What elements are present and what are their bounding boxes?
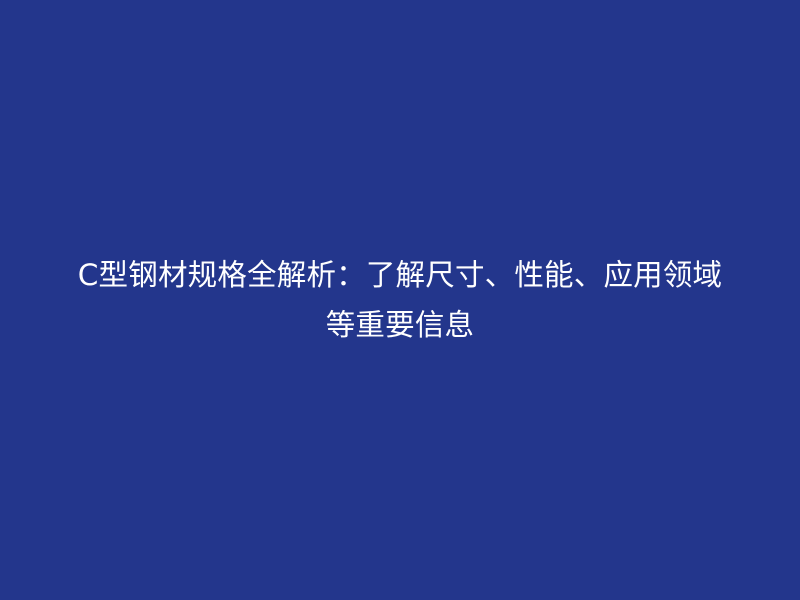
title-cover-card: C型钢材规格全解析：了解尺寸、性能、应用领域 等重要信息 [0,0,800,600]
page-title-line-1: C型钢材规格全解析：了解尺寸、性能、应用领域 [50,250,750,300]
page-title: C型钢材规格全解析：了解尺寸、性能、应用领域 等重要信息 [50,250,750,350]
headline-block: C型钢材规格全解析：了解尺寸、性能、应用领域 等重要信息 [50,250,750,350]
page-title-line-2: 等重要信息 [50,300,750,350]
